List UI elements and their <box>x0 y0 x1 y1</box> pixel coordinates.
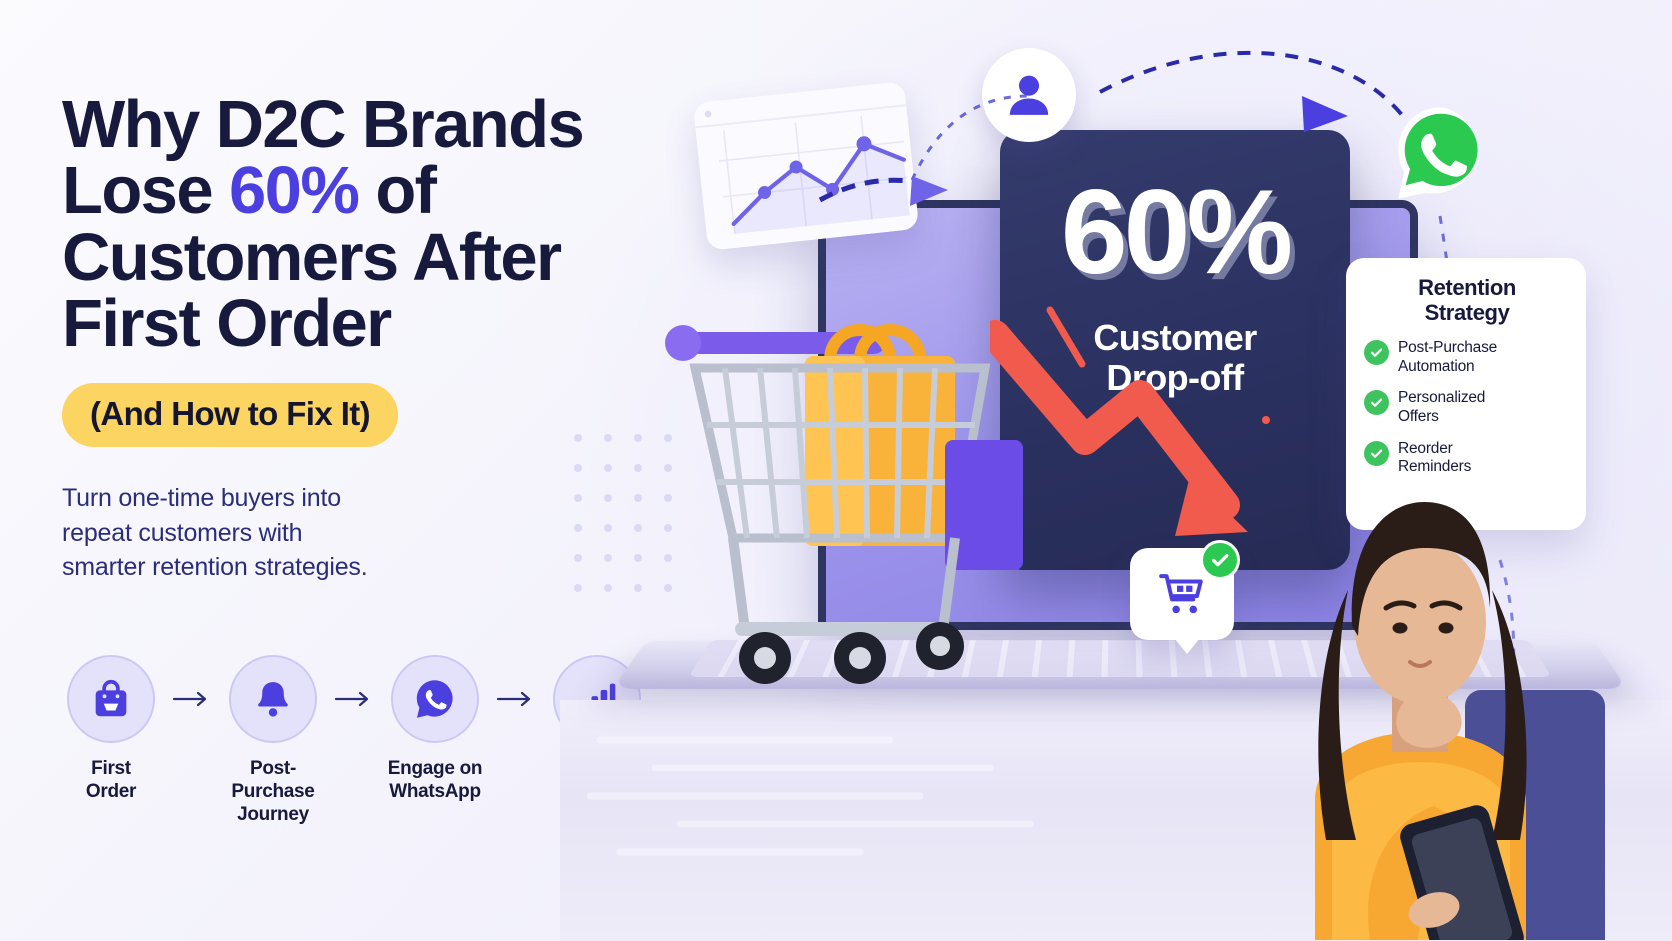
step-post-purchase-journey[interactable]: Post-Purchase Journey <box>218 655 328 827</box>
shopping-cart-icon <box>1157 569 1207 619</box>
headline-line-2: Lose 60% of <box>62 158 662 224</box>
stat-value: 60% <box>1000 172 1350 292</box>
step-icon-circle <box>67 655 155 743</box>
step-label: Engage on WhatsApp <box>388 757 482 803</box>
subtitle-line-3: smarter retention strategies. <box>62 550 662 585</box>
customer-avatar <box>982 48 1076 142</box>
retention-item: Post-Purchase Automation <box>1364 339 1570 376</box>
customer-photo <box>1220 440 1620 940</box>
arrow-right-icon <box>172 690 212 708</box>
desk-motion-lines <box>560 720 1320 880</box>
page-title: Why D2C Brands Lose 60% of Customers Aft… <box>62 92 662 357</box>
retention-item-line-1: Post-Purchase <box>1398 339 1497 356</box>
retention-title-line-1: Retention <box>1418 275 1516 300</box>
whatsapp-badge <box>1388 100 1494 206</box>
arrow-right-icon <box>496 690 536 708</box>
step-arrow-3 <box>490 655 542 743</box>
arrow-right-icon <box>334 690 374 708</box>
bell-icon <box>250 676 296 722</box>
step-arrow-1 <box>166 655 218 743</box>
subtitle-line-1: Turn one-time buyers into <box>62 481 662 516</box>
retention-item-line-2: Offers <box>1398 408 1439 425</box>
shopping-cart-illustration <box>655 290 1075 690</box>
retention-item-text: Personalized Offers <box>1398 389 1485 426</box>
shopping-bag-icon <box>88 676 134 722</box>
headline-line-3: Customers After <box>62 225 662 291</box>
hero-text-block: Why D2C Brands Lose 60% of Customers Aft… <box>62 92 662 585</box>
hero-illustration: 60% Customer Drop-off <box>560 0 1672 941</box>
analytics-chart-card <box>693 81 919 250</box>
retention-item: Personalized Offers <box>1364 389 1570 426</box>
user-icon <box>1001 67 1057 123</box>
whatsapp-icon <box>1388 100 1494 206</box>
subtitle: Turn one-time buyers into repeat custome… <box>62 481 662 585</box>
retention-item-text: Post-Purchase Automation <box>1398 339 1497 376</box>
subtitle-line-2: repeat customers with <box>62 516 662 551</box>
fix-it-badge: (And How to Fix It) <box>62 383 398 447</box>
check-icon <box>1364 390 1389 415</box>
step-arrow-2 <box>328 655 380 743</box>
line-chart-icon <box>693 81 919 250</box>
headline-line-1: Why D2C Brands <box>62 92 662 158</box>
retention-title-line-2: Strategy <box>1425 300 1510 325</box>
step-icon-circle <box>391 655 479 743</box>
headline-stat-accent: 60% <box>229 153 358 228</box>
headline-of-text: of <box>358 153 435 228</box>
headline-line-4: First Order <box>62 291 662 357</box>
retention-card-title: Retention Strategy <box>1364 276 1570 325</box>
retention-item-line-1: Personalized <box>1398 389 1485 406</box>
step-label: Post-Purchase Journey <box>218 757 328 827</box>
headline-lose-text: Lose <box>62 153 229 228</box>
whatsapp-icon <box>411 675 459 723</box>
cart-notification-badge <box>1130 548 1234 640</box>
step-engage-on-whatsapp[interactable]: Engage on WhatsApp <box>380 655 490 803</box>
step-first-order[interactable]: First Order <box>56 655 166 803</box>
retention-item-line-2: Automation <box>1398 358 1474 375</box>
check-icon <box>1364 340 1389 365</box>
step-icon-circle <box>229 655 317 743</box>
step-label: First Order <box>86 757 136 803</box>
